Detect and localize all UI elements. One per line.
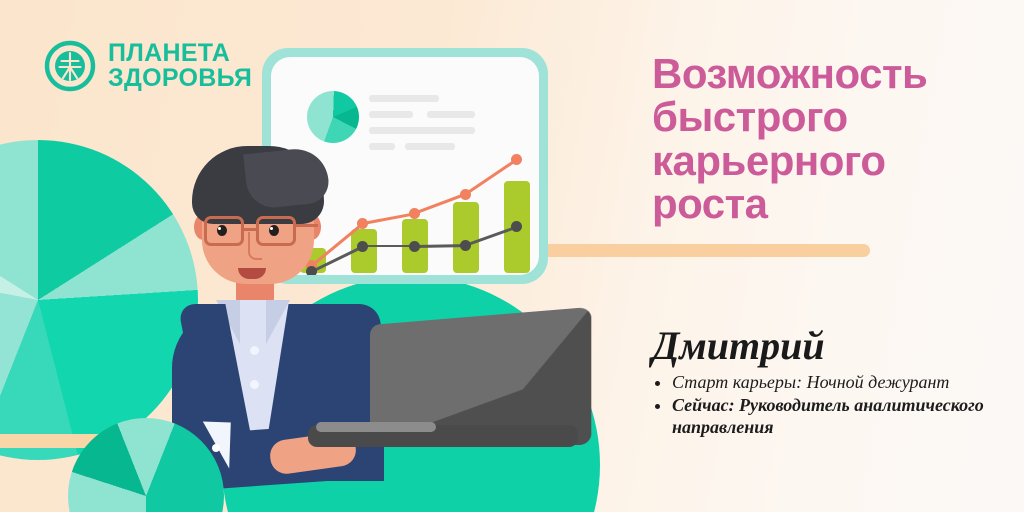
shirt-button-1	[250, 346, 259, 355]
board-text-line-1	[369, 95, 439, 102]
poster-canvas: ПЛАНЕТА ЗДОРОВЬЯ Возможность быстрого ка…	[0, 0, 1024, 512]
brand-logo[interactable]: ПЛАНЕТА ЗДОРОВЬЯ	[44, 40, 252, 92]
headline-line-2: быстрого	[652, 95, 1012, 138]
career-fact-item: Старт карьеры: Ночной дежурант	[672, 372, 1002, 394]
tree-in-circle-icon	[44, 40, 96, 92]
page-title: Возможность быстрого карьерного роста	[652, 52, 1012, 225]
headline-line-3: карьерного	[652, 139, 1012, 182]
cuff-button	[212, 444, 220, 452]
headline-line-4: роста	[652, 182, 1012, 225]
lens-left	[204, 216, 244, 246]
career-facts: Старт карьеры: Ночной дежурантСейчас: Ру…	[652, 372, 1002, 440]
board-text-line-2	[369, 111, 413, 118]
accent-bar	[540, 244, 870, 257]
laptop-keyboard-edge	[316, 422, 436, 432]
headline-line-1: Возможность	[652, 52, 1012, 95]
shirt-button-2	[250, 380, 259, 389]
hair-swoop	[243, 146, 330, 210]
chart-data-point	[511, 154, 522, 165]
board-text-line-3	[427, 111, 475, 118]
career-facts-list: Старт карьеры: Ночной дежурантСейчас: Ру…	[652, 372, 1002, 439]
brand-name-line1: ПЛАНЕТА	[108, 41, 252, 67]
brand-name-line2: ЗДОРОВЬЯ	[108, 66, 252, 92]
career-fact-item: Сейчас: Руководитель аналитического напр…	[672, 395, 1002, 439]
glasses-bridge	[244, 228, 256, 231]
brand-name: ПЛАНЕТА ЗДОРОВЬЯ	[108, 41, 252, 92]
person-name: Дмитрий	[652, 322, 825, 369]
glasses-temple	[296, 224, 318, 227]
nose	[248, 232, 262, 260]
lens-right	[256, 216, 296, 246]
